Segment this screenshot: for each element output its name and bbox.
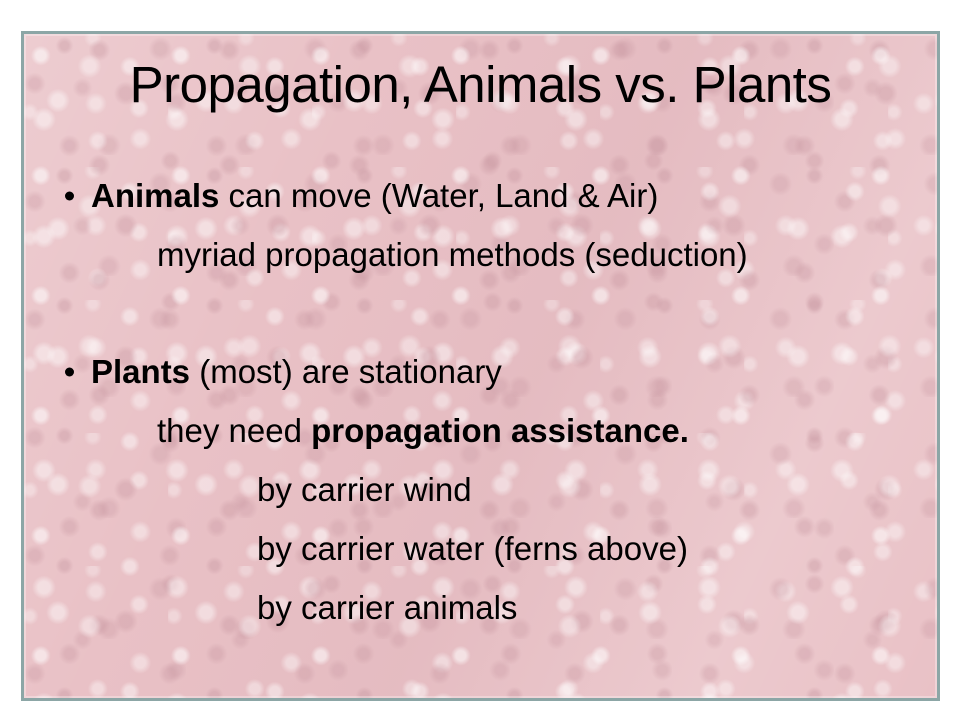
line-plants-sub-prefix: they need: [157, 412, 311, 449]
line-carrier-wind-text: by carrier wind: [257, 471, 472, 508]
bullet-animals-text: Animals can move (Water, Land & Air): [65, 166, 658, 225]
slide-content: Propagation, Animals vs. Plants Animals …: [24, 34, 937, 698]
bullet-animals-detail: can move (Water, Land & Air): [219, 177, 658, 214]
line-animals-sub-text: myriad propagation methods (seduction): [157, 236, 748, 273]
slide-title: Propagation, Animals vs. Plants: [24, 56, 937, 114]
slide-body: Animals can move (Water, Land & Air) myr…: [24, 166, 937, 637]
bullet-plants-detail: (most) are stationary: [190, 353, 502, 390]
line-spacer: [24, 284, 937, 342]
bullet-dot-icon: [65, 191, 74, 200]
slide-frame: Propagation, Animals vs. Plants Animals …: [21, 31, 940, 701]
bullet-plants-text: Plants (most) are stationary: [65, 342, 502, 401]
bullet-item-animals: Animals can move (Water, Land & Air): [24, 166, 937, 225]
bullet-animals-label: Animals: [91, 177, 219, 214]
bullet-dot-icon: [65, 367, 74, 376]
bullet-item-plants: Plants (most) are stationary: [24, 342, 937, 401]
line-carrier-wind: by carrier wind: [24, 460, 937, 519]
line-carrier-animals-text: by carrier animals: [257, 589, 517, 626]
line-carrier-water-text: by carrier water (ferns above): [257, 530, 688, 567]
line-carrier-water: by carrier water (ferns above): [24, 519, 937, 578]
line-carrier-animals: by carrier animals: [24, 578, 937, 637]
line-plants-sub: they need propagation assistance.: [24, 401, 937, 460]
bullet-plants-label: Plants: [91, 353, 190, 390]
line-plants-sub-emphasis: propagation assistance.: [311, 412, 689, 449]
slide-root: Propagation, Animals vs. Plants Animals …: [0, 0, 960, 720]
line-animals-sub: myriad propagation methods (seduction): [24, 225, 937, 284]
